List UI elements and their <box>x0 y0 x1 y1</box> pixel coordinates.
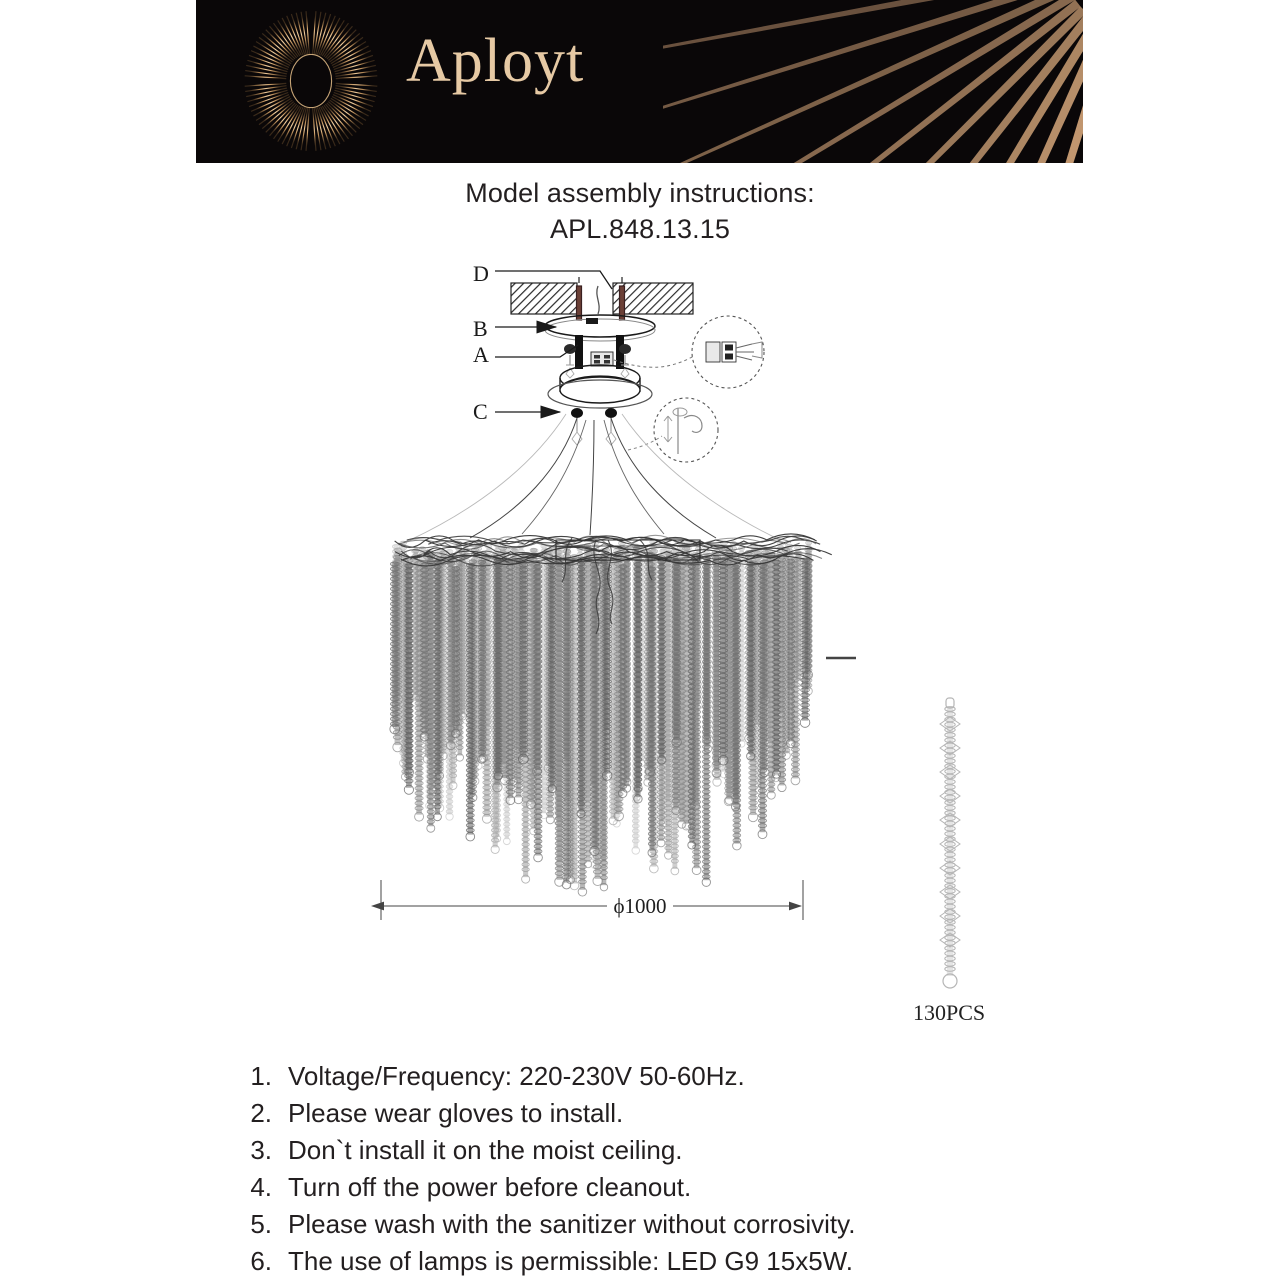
crystal-strand <box>761 551 770 705</box>
crystal-strand <box>544 548 553 772</box>
crystal-strand <box>731 556 739 803</box>
crystal-strand <box>530 548 537 835</box>
crystal-strand <box>577 547 583 733</box>
callout-leaders <box>495 271 612 412</box>
crystal-strand <box>415 561 424 821</box>
crystal-strand <box>420 563 429 741</box>
crystal-strand <box>404 564 413 794</box>
crystal-strand <box>713 554 721 786</box>
crystal-strand <box>498 546 507 771</box>
instruction-text: The use of lamps is permissible: LED G9 … <box>288 1243 1132 1280</box>
crystal-strand <box>526 555 535 809</box>
crystal-strand <box>771 556 780 782</box>
crystal-strand <box>531 549 538 739</box>
crystal-strand <box>614 552 623 821</box>
crystal-strand <box>566 560 574 883</box>
crystal-strand <box>584 544 591 809</box>
crystal-strand <box>549 548 557 795</box>
crystal-strand <box>805 541 812 654</box>
crystal-strand <box>657 555 665 847</box>
crystal-strand <box>433 560 441 821</box>
crystal-strand <box>533 560 542 775</box>
crystal-strand <box>439 551 447 760</box>
crystal-strand <box>664 551 672 859</box>
header-banner: Aployt <box>196 0 1083 163</box>
instruction-item: 1.Voltage/Frequency: 220-230V 50-60Hz. <box>232 1058 1132 1095</box>
crystal-strand <box>429 553 437 794</box>
crystal-strand <box>510 549 517 785</box>
crystal-strand <box>703 556 711 743</box>
crystal-strand <box>692 555 701 875</box>
crystal-strand <box>393 555 402 751</box>
crystal-strand <box>462 543 469 723</box>
crystal-strand <box>562 565 571 889</box>
crystal-strand <box>778 558 786 792</box>
crystal-strand <box>609 554 617 824</box>
crystal-strand <box>522 552 530 883</box>
crystal-strand <box>754 551 761 731</box>
crystal-strand <box>518 544 525 790</box>
crystal-strand <box>786 559 795 748</box>
crystal-strand <box>730 541 737 754</box>
instruction-number: 6. <box>232 1243 288 1280</box>
crystal-strand <box>423 550 432 763</box>
crystal-strand <box>725 554 733 805</box>
crystal-strand <box>756 545 763 794</box>
crystal-strand <box>459 550 467 720</box>
crystal-strand <box>650 549 659 873</box>
crystal-strand <box>471 548 479 785</box>
crystal-strand <box>589 548 597 791</box>
crystal-strand <box>518 563 528 764</box>
crystal-strand <box>578 560 587 896</box>
crystal-strand <box>724 546 733 805</box>
crystal-strand <box>632 544 640 854</box>
callout-label-B: B <box>473 316 488 342</box>
instruction-number: 5. <box>232 1206 288 1243</box>
crystal-strand <box>555 561 564 886</box>
instruction-number: 2. <box>232 1095 288 1132</box>
crystal-strand <box>534 564 543 862</box>
crystal-strand <box>419 547 426 722</box>
crystal-strand <box>426 549 433 809</box>
instruction-item: 3.Don`t install it on the moist ceiling. <box>232 1132 1132 1169</box>
diameter-value: ϕ1000 <box>607 894 672 918</box>
crystal-strand <box>554 550 562 825</box>
crystal-strand <box>664 544 672 807</box>
sunburst-logo-icon <box>236 6 386 156</box>
crystal-strand <box>563 549 572 765</box>
frame-wiring <box>395 534 832 634</box>
suspension-cables <box>410 414 780 540</box>
crystal-strand <box>767 552 775 799</box>
crystal-strand <box>435 549 443 812</box>
crystal-strand <box>720 541 728 778</box>
crystal-strand <box>672 559 680 815</box>
part-quantity-label: 130PCS <box>913 1000 985 1026</box>
crystal-strand <box>556 549 564 867</box>
crystal-strand <box>800 558 810 727</box>
ceiling-canopy <box>548 365 652 408</box>
crystal-strand <box>750 545 758 721</box>
diameter-dimension-label: ϕ1000 <box>0 894 1280 919</box>
crystal-strand <box>677 541 685 820</box>
crystal-strand <box>712 550 719 769</box>
crystal-strand <box>392 545 400 709</box>
leader-A <box>495 345 578 357</box>
crystal-strand <box>748 561 757 822</box>
callout-label-C: C <box>473 399 488 425</box>
crystal-strand <box>624 551 631 785</box>
callout-label-A: A <box>473 342 489 368</box>
title-line-2: APL.848.13.15 <box>0 211 1280 247</box>
crystal-strand <box>514 559 523 804</box>
crystal-strand <box>466 563 475 841</box>
crystal-strand <box>794 546 801 671</box>
crystal-strand <box>718 558 728 765</box>
crystal-strand <box>785 544 793 695</box>
crystal-strand <box>765 549 773 747</box>
crystal-strand <box>474 542 482 770</box>
crystal-strand <box>401 555 408 781</box>
crystal-strand <box>548 563 556 793</box>
crystal-strand <box>684 541 692 829</box>
brand-wordmark: Aployt <box>406 30 584 92</box>
instruction-item: 6.The use of lamps is permissible: LED G… <box>232 1243 1132 1280</box>
crystal-strand <box>702 545 709 736</box>
crystal-strand <box>394 548 403 703</box>
crystal-strand <box>805 548 813 695</box>
crystal-strand <box>546 562 554 824</box>
crystal-strand <box>479 552 487 762</box>
crystal-strand <box>600 549 607 868</box>
crystal-strand <box>500 558 509 785</box>
crystal-strand <box>772 560 780 778</box>
crystal-strand <box>688 559 696 849</box>
crystal-strand <box>777 541 785 718</box>
instruction-item: 4.Turn off the power before cleanout. <box>232 1169 1132 1206</box>
terminal-block <box>591 352 613 366</box>
crystal-strand <box>455 541 462 734</box>
crystal-strand <box>634 562 642 803</box>
crystal-rod-strand-part <box>940 698 960 988</box>
crystal-strand <box>494 558 502 780</box>
ceiling-slab <box>511 283 693 314</box>
supply-wire <box>597 286 599 314</box>
instruction-text: Please wash with the sanitizer without c… <box>288 1206 1132 1243</box>
crystal-strand <box>660 549 667 827</box>
crystal-strand <box>412 549 419 701</box>
crystal-strand <box>648 567 656 857</box>
instruction-list: 1.Voltage/Frequency: 220-230V 50-60Hz.2.… <box>232 1058 1132 1280</box>
crystal-strand <box>702 565 710 887</box>
crystal-strand <box>782 548 790 759</box>
crystal-strand <box>623 558 631 792</box>
wiring-terminal-block-detail <box>614 316 764 388</box>
crystal-strand <box>704 555 712 753</box>
gold-ray-fan-icon <box>663 0 1083 163</box>
ceiling-anchor-bolts <box>577 277 625 320</box>
instruction-number: 4. <box>232 1169 288 1206</box>
crystal-strand <box>794 551 802 687</box>
crystal-strand <box>682 547 690 830</box>
crystal-strand <box>456 561 463 762</box>
crystal-strand <box>482 556 491 824</box>
crystal-strand <box>600 556 607 891</box>
crystal-strand <box>585 547 592 868</box>
crystal-strand <box>738 546 745 747</box>
crystal-strand <box>570 555 579 890</box>
crystal-strand <box>649 540 657 754</box>
crystal-strand <box>672 560 682 746</box>
crystal-strand <box>618 565 627 798</box>
instruction-item: 2.Please wear gloves to install. <box>232 1095 1132 1132</box>
crystal-strand <box>485 545 492 733</box>
crystal-strand <box>399 541 406 767</box>
crystal-strand <box>671 549 679 875</box>
crystal-strand <box>634 558 642 793</box>
instruction-number: 3. <box>232 1132 288 1169</box>
canopy-fixing-screws <box>571 408 617 445</box>
crystal-strand <box>446 550 453 821</box>
crystal-strand <box>733 558 742 850</box>
mounting-bracket-plate <box>545 315 655 341</box>
crystal-strand <box>447 556 456 749</box>
instruction-item: 5.Please wash with the sanitizer without… <box>232 1206 1132 1243</box>
instruction-text: Don`t install it on the moist ceiling. <box>288 1132 1132 1169</box>
crystal-strand <box>449 554 457 790</box>
crystal-strand <box>452 567 461 738</box>
crystal-strand <box>602 565 612 781</box>
crystal-strand <box>691 553 700 810</box>
crystal-strand <box>633 547 640 802</box>
crystal-strand <box>478 560 486 763</box>
crystal-strand <box>436 557 444 780</box>
chandelier-frame-ring <box>556 540 700 560</box>
instruction-text: Please wear gloves to install. <box>288 1095 1132 1132</box>
crystal-strand <box>760 560 769 777</box>
crystal-strand <box>506 560 515 805</box>
crystal-strand <box>791 558 800 785</box>
crystal-strand <box>591 541 599 869</box>
crystal-strand <box>613 549 620 827</box>
callout-label-D: D <box>473 261 489 287</box>
crystal-strand <box>745 550 754 743</box>
crystal-strand <box>427 555 435 833</box>
crystal-strand <box>803 559 812 679</box>
crystal-strand <box>565 540 572 802</box>
crystal-strand <box>731 565 739 811</box>
crystal-strand <box>577 562 585 818</box>
leader-D <box>495 271 612 289</box>
crystal-strand <box>405 559 414 777</box>
crystal-strand <box>541 544 548 818</box>
instruction-text: Voltage/Frequency: 220-230V 50-60Hz. <box>288 1058 1132 1095</box>
crystal-strand <box>590 563 599 856</box>
crystal-strand <box>644 550 652 786</box>
crystal-strand <box>638 546 645 767</box>
crystal-strand <box>469 560 477 802</box>
crystal-strand <box>658 560 666 764</box>
page-title: Model assembly instructions: APL.848.13.… <box>0 175 1280 247</box>
crystal-strand-hook-detail <box>628 398 718 462</box>
crystal-strand <box>678 559 686 828</box>
threaded-rod-assembly <box>564 335 631 378</box>
crystal-strand <box>618 541 626 761</box>
crystal-strand <box>503 547 510 844</box>
title-line-1: Model assembly instructions: <box>0 175 1280 211</box>
crystal-strand <box>712 556 721 777</box>
crystal-strand <box>645 552 654 776</box>
instruction-text: Turn off the power before cleanout. <box>288 1169 1132 1206</box>
crystal-strand <box>494 543 500 842</box>
crystal-strand <box>695 542 702 709</box>
instruction-number: 1. <box>232 1058 288 1095</box>
crystal-strand <box>493 560 502 792</box>
crystal-strand <box>747 562 755 761</box>
chandelier-crystal-body <box>390 540 813 896</box>
crystal-strand <box>758 564 767 839</box>
crystal-strand <box>593 555 602 886</box>
crystal-strand <box>411 549 419 706</box>
crystal-strand <box>603 548 610 735</box>
crystal-strand <box>390 562 400 734</box>
crystal-strand <box>491 553 499 853</box>
crystal-strand <box>512 549 519 755</box>
